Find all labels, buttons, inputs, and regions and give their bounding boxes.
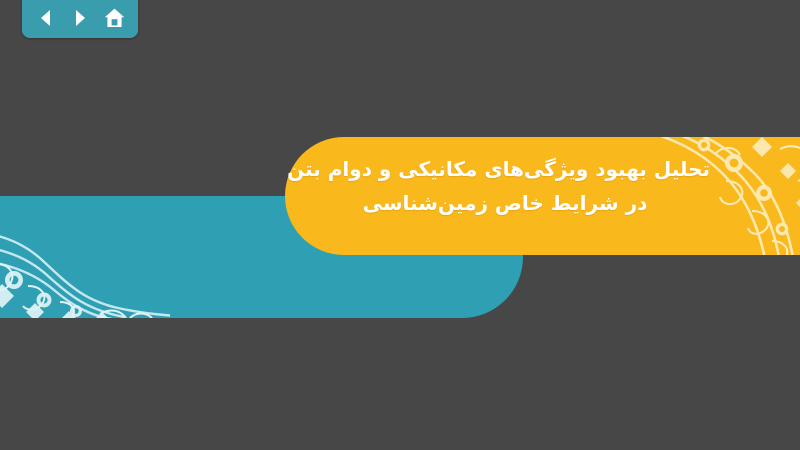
back-button[interactable] — [31, 5, 61, 31]
home-icon — [104, 8, 125, 28]
forward-arrow-icon — [71, 9, 89, 27]
home-button[interactable] — [99, 5, 129, 31]
slide-title-line-2: در شرایط خاص زمین‌شناسی — [300, 186, 710, 220]
presentation-slide: تحلیل بهبود ویژگی‌های مکانیکی و دوام بتن… — [0, 0, 800, 450]
slide-title-line-1: تحلیل بهبود ویژگی‌های مکانیکی و دوام بتن — [300, 152, 710, 186]
arabesque-ornament-bottom-left-icon — [0, 196, 170, 318]
navigation-bar — [22, 0, 138, 38]
slide-title: تحلیل بهبود ویژگی‌های مکانیکی و دوام بتن… — [300, 152, 710, 221]
forward-button[interactable] — [65, 5, 95, 31]
back-arrow-icon — [37, 9, 55, 27]
